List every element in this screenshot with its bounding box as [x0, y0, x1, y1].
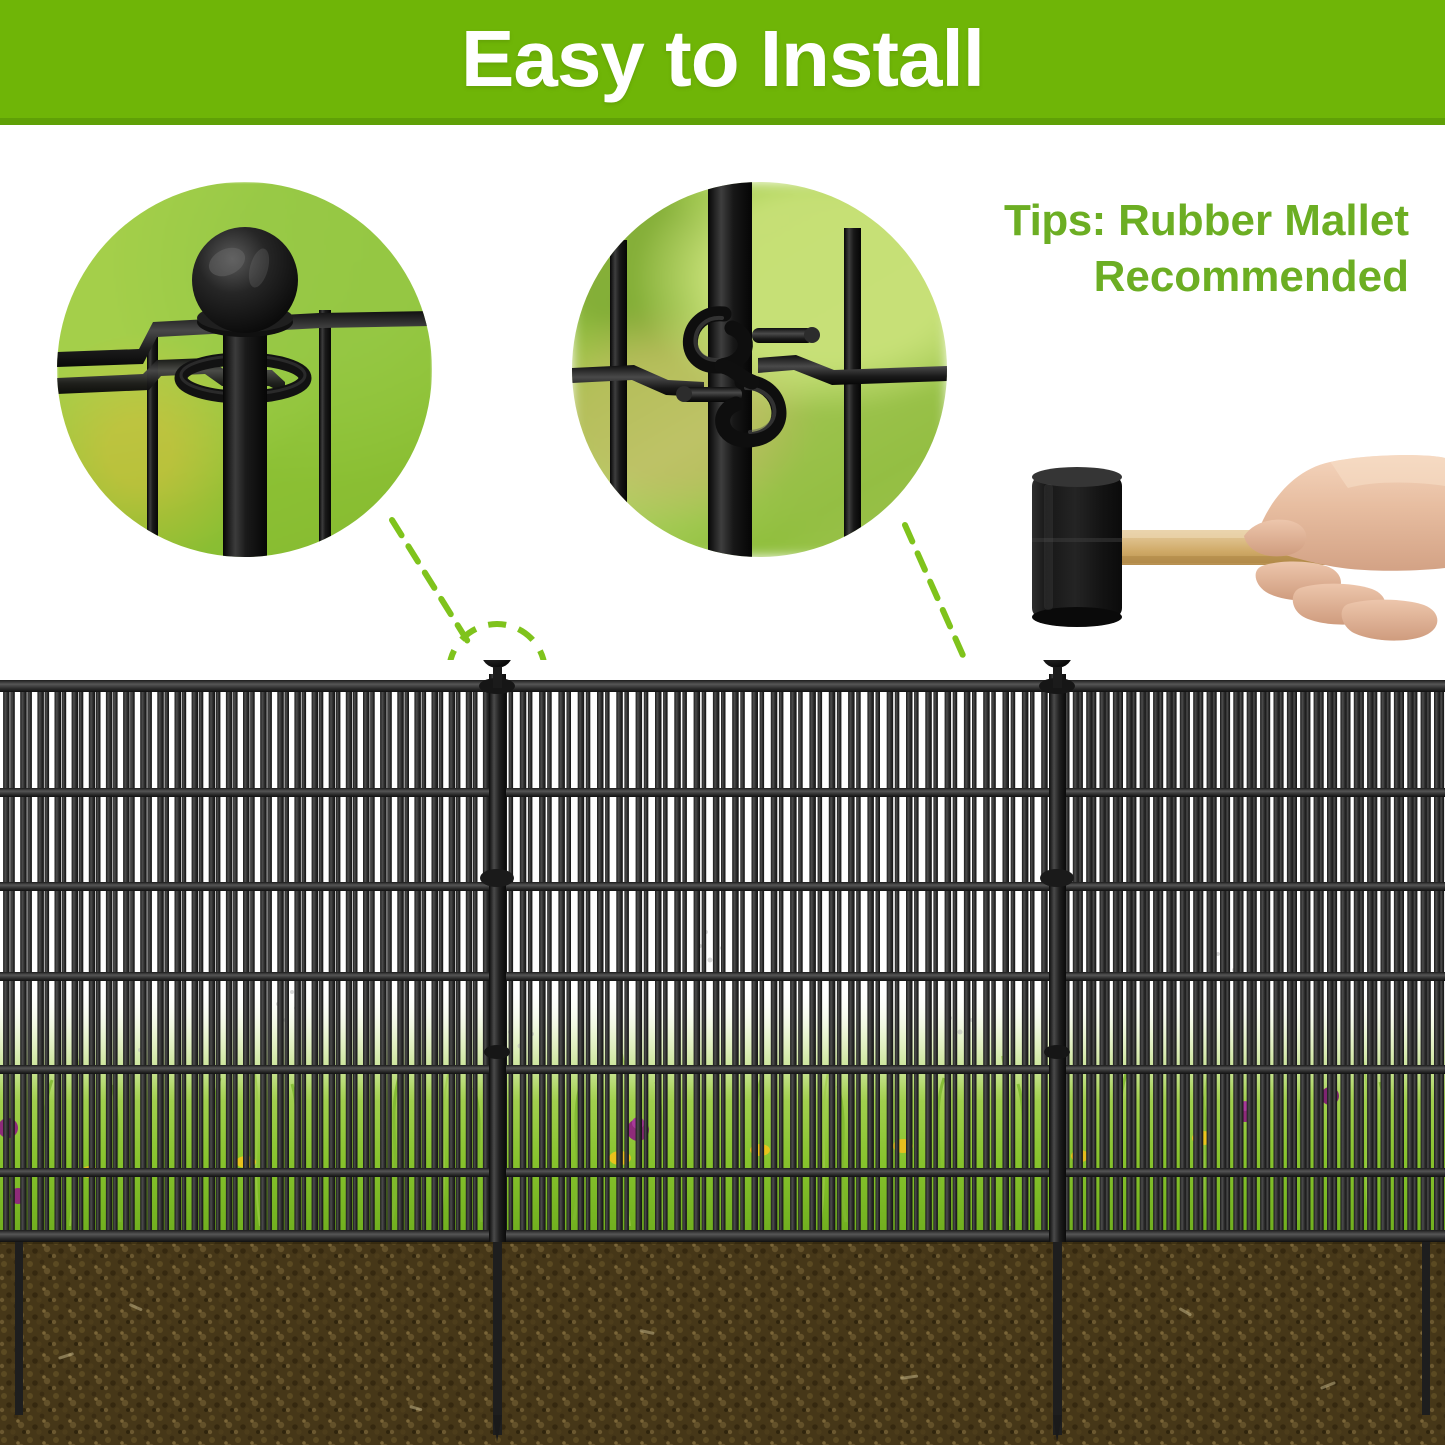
- tips-line-2: Recommended: [1004, 249, 1409, 305]
- banner-underline: [0, 118, 1445, 125]
- page-title: Easy to Install: [461, 19, 984, 99]
- callout-hook-connector: [572, 182, 947, 557]
- header-banner: Easy to Install: [0, 0, 1445, 118]
- mallet-illustration: [1000, 440, 1445, 655]
- tips-label: Tips:: [1004, 196, 1106, 245]
- rubber-mallet-and-hand: [1000, 440, 1445, 655]
- callout-post-cap: [57, 182, 432, 557]
- fence-post: [489, 674, 1066, 1242]
- post-finial: [481, 660, 1073, 682]
- fence-scene: [0, 660, 1445, 1445]
- tips-line-1: Tips: Rubber Mallet: [1004, 193, 1409, 249]
- post-cap-illustration: [57, 182, 432, 557]
- hook-connector-illustration: [572, 182, 947, 557]
- product-infographic: Easy to Install Tips: Rubber Mallet Reco…: [0, 0, 1445, 1445]
- fence-structure: [0, 660, 1445, 1445]
- tips-text: Tips: Rubber Mallet Recommended: [1004, 193, 1409, 306]
- tips-line-1-rest: Rubber Mallet: [1118, 196, 1409, 245]
